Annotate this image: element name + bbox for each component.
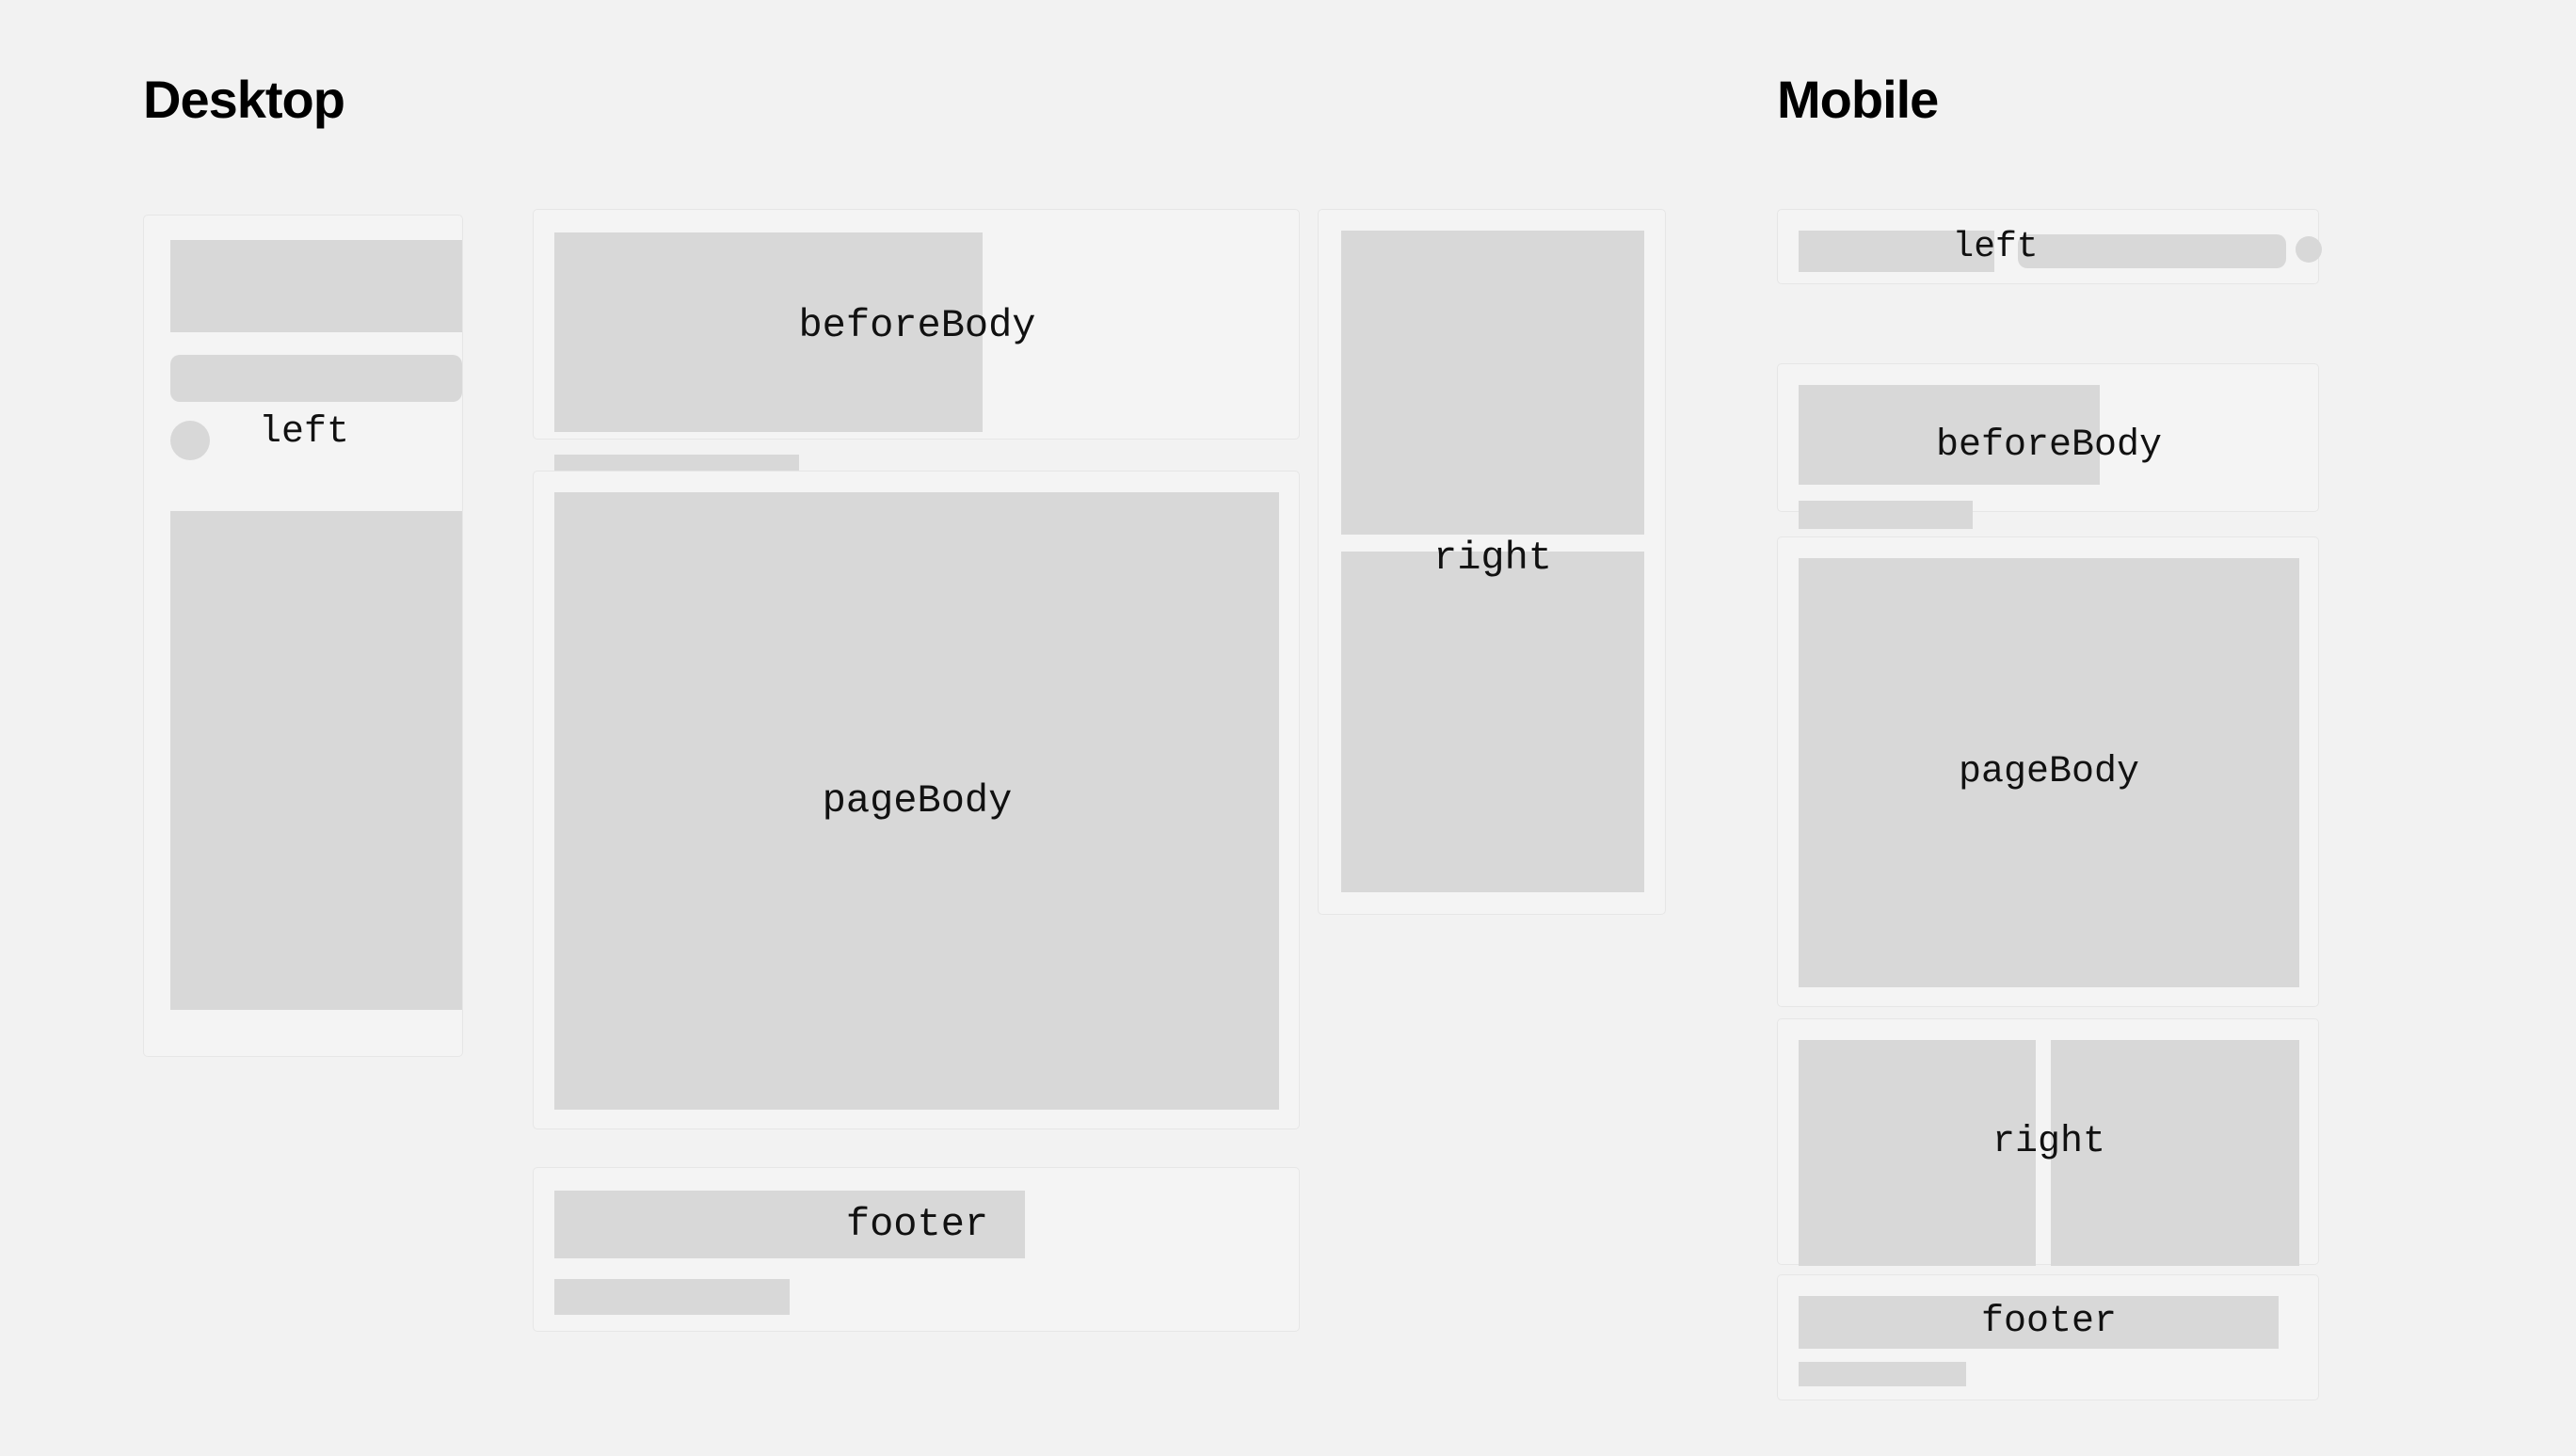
desktop-beforebody-hero-block (554, 232, 983, 432)
desktop-region-beforebody[interactable]: beforeBody (533, 209, 1300, 440)
mobile-beforebody-hero-block (1799, 385, 2100, 485)
mobile-left-avatar-dot (2296, 236, 2322, 263)
mobile-pagebody-main-block (1799, 558, 2299, 987)
desktop-footer-block (554, 1191, 1025, 1258)
mobile-left-subheader-block (2018, 234, 2286, 268)
mobile-region-footer[interactable]: footer (1777, 1274, 2319, 1400)
desktop-region-footer[interactable]: footer (533, 1167, 1300, 1332)
desktop-left-subheader-block (170, 355, 462, 402)
mobile-left-header-block (1799, 231, 1994, 272)
mobile-region-left[interactable]: left (1777, 209, 2319, 284)
desktop-pagebody-main-block (554, 492, 1279, 1110)
desktop-region-right[interactable]: right (1318, 209, 1666, 915)
mobile-footer-caption-block (1799, 1362, 1966, 1386)
mobile-right-aside-right-block (2051, 1040, 2299, 1266)
desktop-right-aside-top-block (1341, 231, 1644, 535)
mobile-beforebody-caption-block (1799, 501, 1973, 529)
desktop-region-pagebody[interactable]: pageBody (533, 471, 1300, 1129)
desktop-left-content-block (170, 511, 462, 1010)
desktop-left-avatar-dot (170, 421, 210, 460)
wireframe-canvas: Desktop left beforeBody pageBody footer (0, 0, 2576, 1456)
mobile-footer-block (1799, 1296, 2279, 1349)
desktop-left-header-block (170, 240, 462, 332)
desktop-footer-caption-block (554, 1279, 790, 1315)
mobile-column-heading: Mobile (1777, 73, 1938, 126)
mobile-region-right[interactable]: right (1777, 1018, 2319, 1265)
mobile-right-aside-left-block (1799, 1040, 2036, 1266)
mobile-region-pagebody[interactable]: pageBody (1777, 536, 2319, 1007)
desktop-region-left[interactable]: left (143, 215, 463, 1057)
desktop-right-aside-bottom-block (1341, 552, 1644, 892)
desktop-column-heading: Desktop (143, 73, 344, 126)
mobile-region-beforebody[interactable]: beforeBody (1777, 363, 2319, 512)
